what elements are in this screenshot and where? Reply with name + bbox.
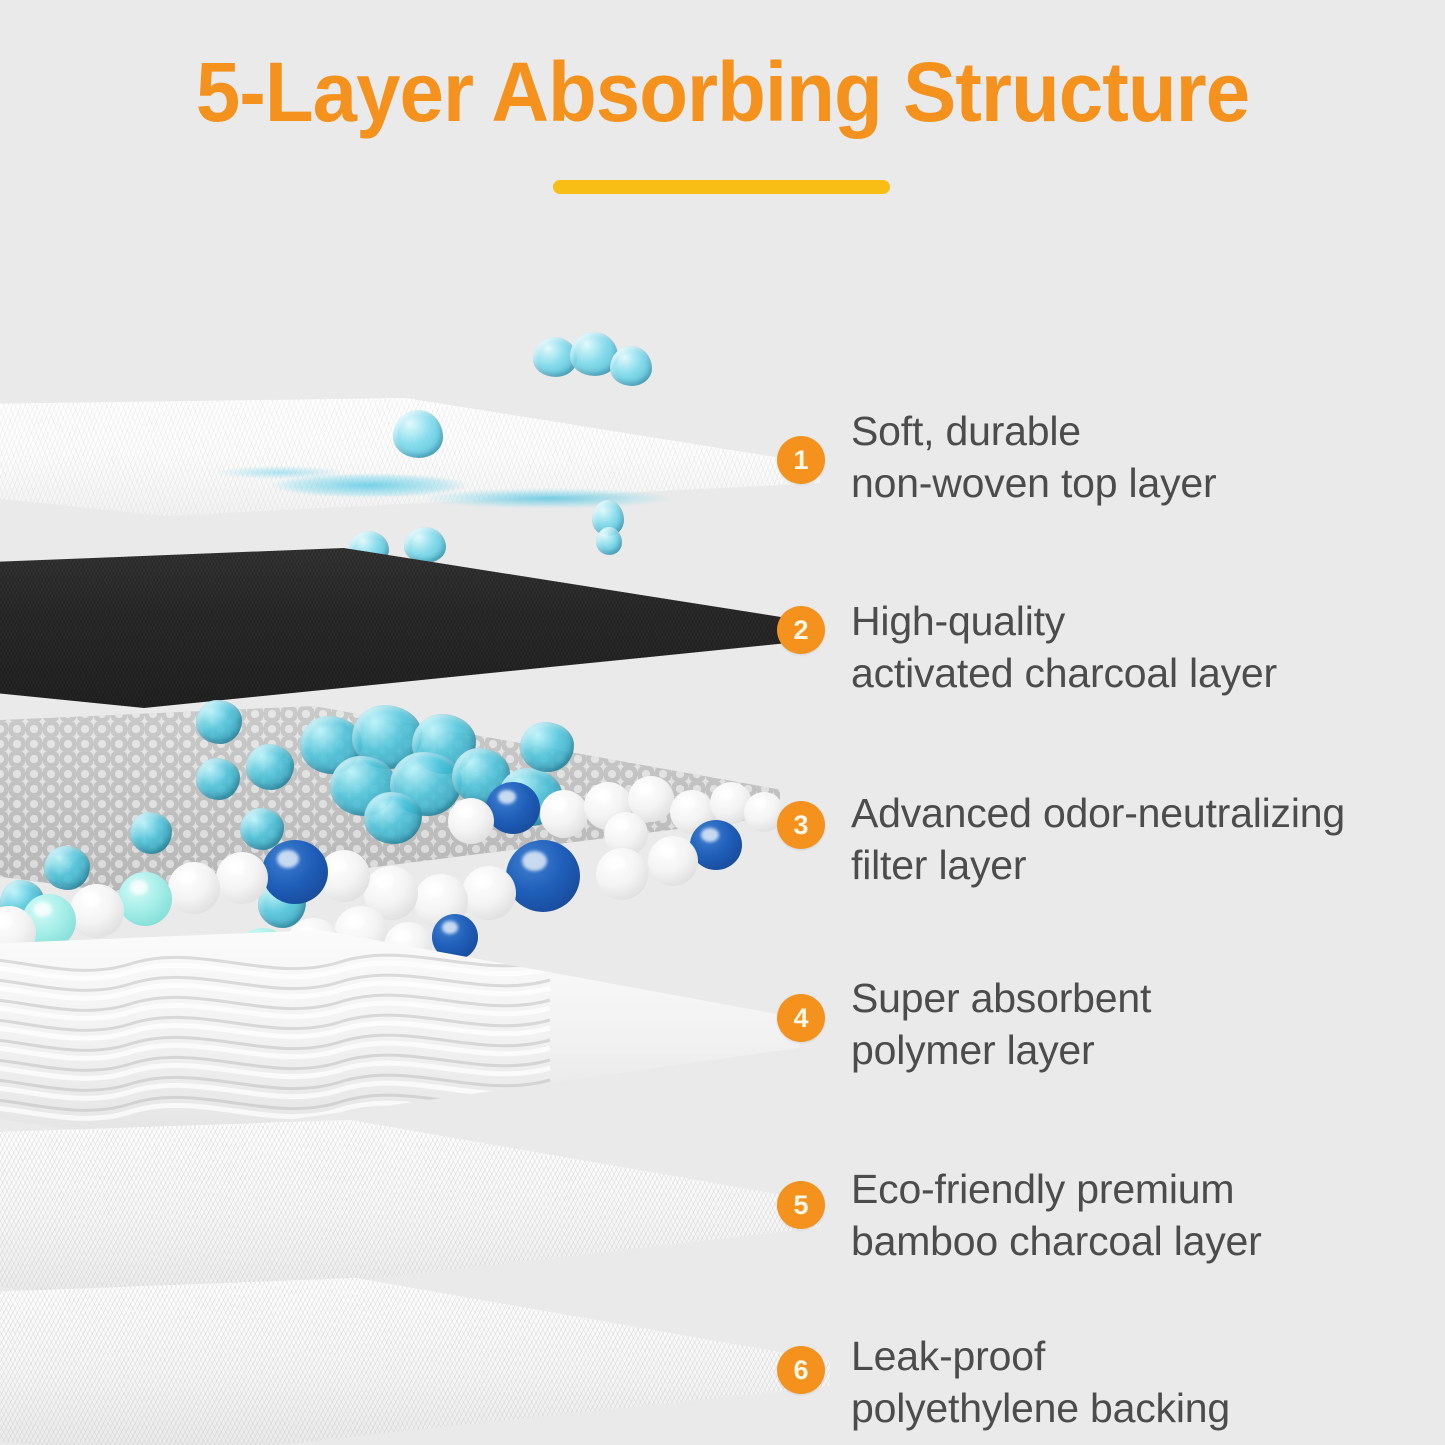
polymer-bead <box>262 840 328 904</box>
callout-label-1-line2: non-woven top layer <box>851 457 1216 509</box>
infographic-page: 5-Layer Absorbing Structure <box>0 0 1445 1445</box>
callout-badge-4[interactable]: 4 <box>777 994 825 1042</box>
callout-label-3-line2: filter layer <box>851 839 1345 891</box>
polymer-bead <box>448 798 494 844</box>
water-droplet-icon <box>404 527 446 563</box>
layer-6-polyethylene-backing-sheet <box>0 1278 830 1445</box>
callout-label-2: High-quality activated charcoal layer <box>851 595 1277 699</box>
gel-crystal <box>520 722 574 772</box>
polymer-bead <box>540 790 588 838</box>
polymer-bead <box>168 862 220 914</box>
callout-label-2-line2: activated charcoal layer <box>851 647 1277 699</box>
callout-label-5-line2: bamboo charcoal layer <box>851 1215 1262 1267</box>
gel-crystal <box>44 846 90 890</box>
polymer-bead <box>506 840 580 912</box>
callout-label-3-line1: Advanced odor-neutralizing <box>851 787 1345 839</box>
callout-badge-2[interactable]: 2 <box>777 606 825 654</box>
polymer-bead <box>118 872 172 926</box>
callout-label-5-line1: Eco-friendly premium <box>851 1163 1262 1215</box>
gel-crystal <box>364 792 422 844</box>
gel-crystal <box>246 744 294 790</box>
callout-label-6-line2: polyethylene backing <box>851 1382 1230 1434</box>
callout-label-4-line1: Super absorbent <box>851 972 1151 1024</box>
polymer-bead <box>648 836 698 886</box>
callout-label-4: Super absorbent polymer layer <box>851 972 1151 1076</box>
layer-5-bamboo-charcoal-woven-sheet <box>0 1120 820 1305</box>
callout-badge-3[interactable]: 3 <box>777 801 825 849</box>
layer-4-absorbent-polymer-wavy-sheet <box>0 930 800 1140</box>
gel-crystal <box>196 700 242 744</box>
water-droplet-icon <box>610 346 652 386</box>
woven-weave-texture <box>0 1278 830 1445</box>
polymer-bead <box>596 848 648 900</box>
charcoal-grain-texture <box>0 548 810 708</box>
callout-badge-5[interactable]: 5 <box>777 1181 825 1229</box>
gel-crystal <box>196 758 240 800</box>
callout-label-5: Eco-friendly premium bamboo charcoal lay… <box>851 1163 1262 1267</box>
callout-label-1-line1: Soft, durable <box>851 405 1216 457</box>
water-droplet-icon <box>393 410 443 458</box>
callout-label-6-line1: Leak-proof <box>851 1330 1230 1382</box>
callout-label-3: Advanced odor-neutralizing filter layer <box>851 787 1345 891</box>
polymer-bead <box>70 884 124 938</box>
callout-label-6: Leak-proof polyethylene backing <box>851 1330 1230 1434</box>
woven-weave-texture <box>0 1120 820 1305</box>
polymer-bead <box>216 852 268 904</box>
layer-2-activated-charcoal-slab <box>0 548 810 708</box>
polymer-bead <box>462 866 516 920</box>
callout-badge-6[interactable]: 6 <box>777 1346 825 1394</box>
polymer-bead <box>486 782 540 834</box>
callout-badge-1[interactable]: 1 <box>777 436 825 484</box>
water-droplet-icon <box>596 527 622 555</box>
callout-label-2-line1: High-quality <box>851 595 1277 647</box>
callout-label-4-line2: polymer layer <box>851 1024 1151 1076</box>
corrugated-wave-texture <box>0 930 800 1140</box>
gel-crystal <box>130 812 172 854</box>
callout-label-1: Soft, durable non-woven top layer <box>851 405 1216 509</box>
